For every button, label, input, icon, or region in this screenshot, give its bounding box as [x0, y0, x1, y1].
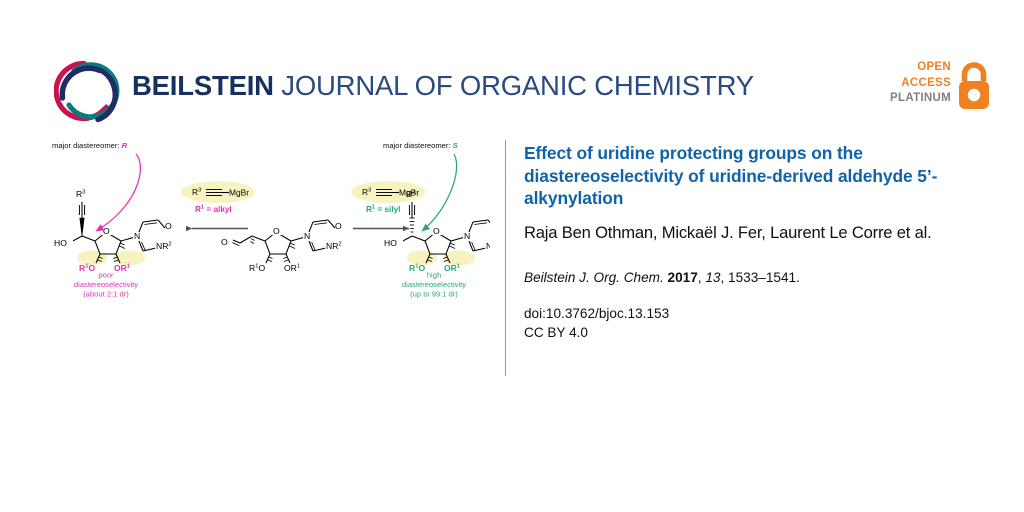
citation-volume: 13	[705, 270, 720, 285]
column-divider	[505, 140, 506, 376]
right-OR1-label: OR1	[444, 263, 461, 273]
citation-journal: Beilstein J. Org. Chem.	[524, 270, 664, 285]
left-reaction-conditions: R3 MgBr R1 = alkyl	[181, 181, 255, 229]
left-ring-nitrogen-label: N	[134, 231, 140, 241]
right-caption-line2: diastereoselectivity	[402, 280, 466, 289]
wordmark-subtitle: JOURNAL OF ORGANIC CHEMISTRY	[274, 70, 754, 101]
left-caption-line3: (about 2:1 dr)	[83, 290, 129, 299]
left-OR1-label: OR1	[114, 263, 131, 273]
open-padlock-icon	[955, 61, 993, 113]
left-selectivity-arrow	[96, 154, 140, 231]
wordmark-beilstein: BEILSTEIN	[132, 70, 274, 101]
article-license: CC BY 4.0	[524, 323, 970, 342]
left-ring-oxygen-label: O	[103, 226, 110, 236]
right-selectivity-caption: high diastereoselectivity (up to 99:1 dr…	[402, 271, 466, 299]
open-access-text: OPEN ACCESS PLATINUM	[890, 60, 951, 107]
citation-pages: 1533–1541.	[728, 270, 800, 285]
oa-line-platinum: PLATINUM	[890, 91, 951, 107]
right-NR2-label: NR2	[486, 241, 490, 251]
center-R1O-label: R1O	[249, 263, 265, 273]
article-authors: Raja Ben Othman, Mickaël J. Fer, Laurent…	[524, 221, 970, 244]
right-ring-nitrogen-label: N	[464, 231, 470, 241]
left-R3-label: R3	[76, 189, 85, 199]
journal-wordmark: BEILSTEIN JOURNAL OF ORGANIC CHEMISTRY	[132, 70, 754, 102]
right-R1O-label: R1O	[409, 263, 425, 273]
open-access-badge: OPEN ACCESS PLATINUM	[893, 60, 993, 116]
left-caption-line2: diastereoselectivity	[74, 280, 138, 289]
right-selectivity-arrow	[422, 154, 457, 231]
right-reagent-condition: R1 = silyl	[366, 205, 400, 214]
right-stereo-descriptor: S	[453, 141, 458, 150]
left-R1O-label: R1O	[79, 263, 95, 273]
beilstein-spiral-logo	[54, 57, 122, 125]
article-doi: doi:10.3762/bjoc.13.153	[524, 304, 970, 323]
right-caption-line1: high	[427, 271, 441, 280]
center-ring-nitrogen-label: N	[304, 231, 310, 241]
oa-line-open: OPEN	[890, 60, 951, 76]
graphical-abstract: major diastereomer: R major diastereomer…	[40, 136, 490, 316]
left-carbonyl-O-top: O	[165, 221, 172, 231]
oa-line-access: ACCESS	[890, 76, 951, 92]
right-HO-label: HO	[384, 238, 397, 248]
center-aldehyde-O-label: O	[221, 237, 228, 247]
right-caption-line3: (up to 99:1 dr)	[410, 290, 458, 299]
center-ring-oxygen-label: O	[273, 226, 280, 236]
article-metadata: Effect of uridine protecting groups on t…	[524, 142, 970, 342]
left-HO-label: HO	[54, 238, 67, 248]
left-product-structure: O R3 HO	[54, 189, 177, 273]
center-carbonyl-O-top: O	[335, 221, 342, 231]
left-caption-line1: poor	[98, 271, 114, 280]
article-title: Effect of uridine protecting groups on t…	[524, 142, 970, 210]
citation-sep-3: ,	[720, 270, 728, 285]
center-OR1-label: OR1	[284, 263, 300, 273]
right-ring-oxygen-label: O	[433, 226, 440, 236]
left-reagent-condition: R1 = alkyl	[195, 205, 232, 214]
citation-year: 2017	[668, 270, 698, 285]
left-diastereomer-header: major diastereomer: R	[52, 141, 128, 150]
left-selectivity-caption: poor diastereoselectivity (about 2:1 dr)	[74, 271, 138, 299]
left-stereo-descriptor: R	[122, 141, 128, 150]
right-diastereomer-header: major diastereomer: S	[383, 141, 458, 150]
article-citation: Beilstein J. Org. Chem. 2017, 13, 1533–1…	[524, 269, 970, 287]
left-reagent-MgBr: MgBr	[229, 188, 249, 198]
page-header: BEILSTEIN JOURNAL OF ORGANIC CHEMISTRY O…	[0, 0, 1024, 130]
